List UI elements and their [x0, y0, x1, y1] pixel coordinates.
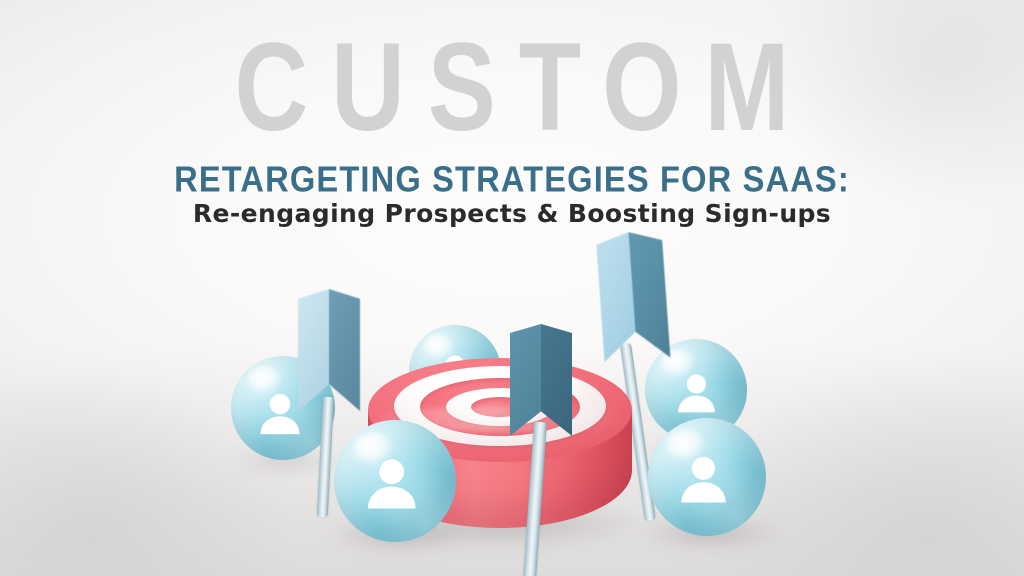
user-icon — [360, 451, 423, 514]
user-icon — [674, 449, 733, 508]
arrow-fletching — [510, 324, 572, 436]
page-subtitle: Re-engaging Prospects & Boosting Sign-up… — [0, 200, 1024, 229]
user-icon — [672, 368, 721, 417]
sphere-right-front — [648, 418, 766, 536]
page-title: RETARGETING STRATEGIES FOR SAAS: — [20, 162, 1003, 198]
kicker-text: CUSTOM — [61, 24, 962, 149]
slide-canvas: CUSTOM RETARGETING STRATEGIES FOR SAAS: … — [0, 0, 1024, 576]
arrow-fletching — [298, 289, 360, 411]
arrow-fletching — [596, 230, 671, 362]
sphere-left-front — [334, 420, 456, 542]
